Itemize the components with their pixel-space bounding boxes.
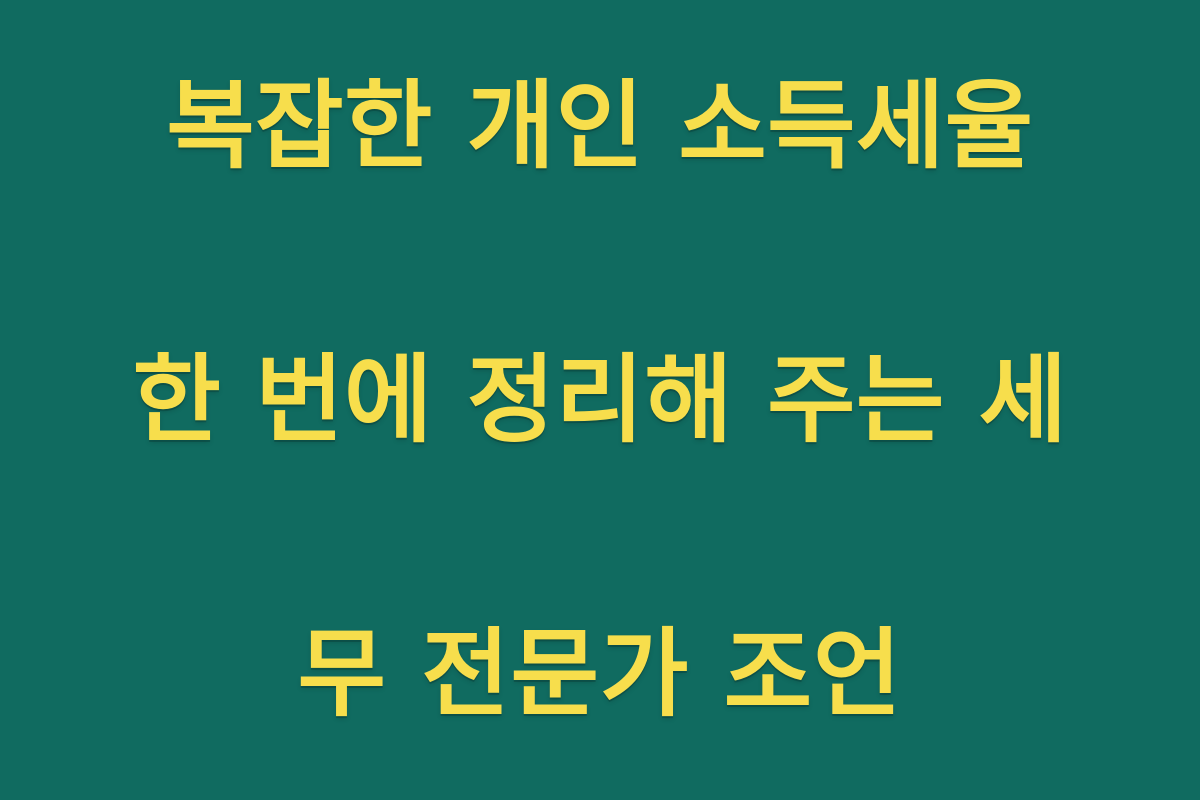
page-title: 복잡한 개인 소득세율 한 번에 정리해 주는 세 무 전문가 조언 bbox=[120, 0, 1080, 800]
headline-line-1: 복잡한 개인 소득세율 bbox=[120, 58, 1080, 195]
headline-line-3: 무 전문가 조언 bbox=[120, 606, 1080, 743]
title-banner: 복잡한 개인 소득세율 한 번에 정리해 주는 세 무 전문가 조언 bbox=[0, 0, 1200, 800]
headline-line-2: 한 번에 정리해 주는 세 bbox=[120, 332, 1080, 469]
